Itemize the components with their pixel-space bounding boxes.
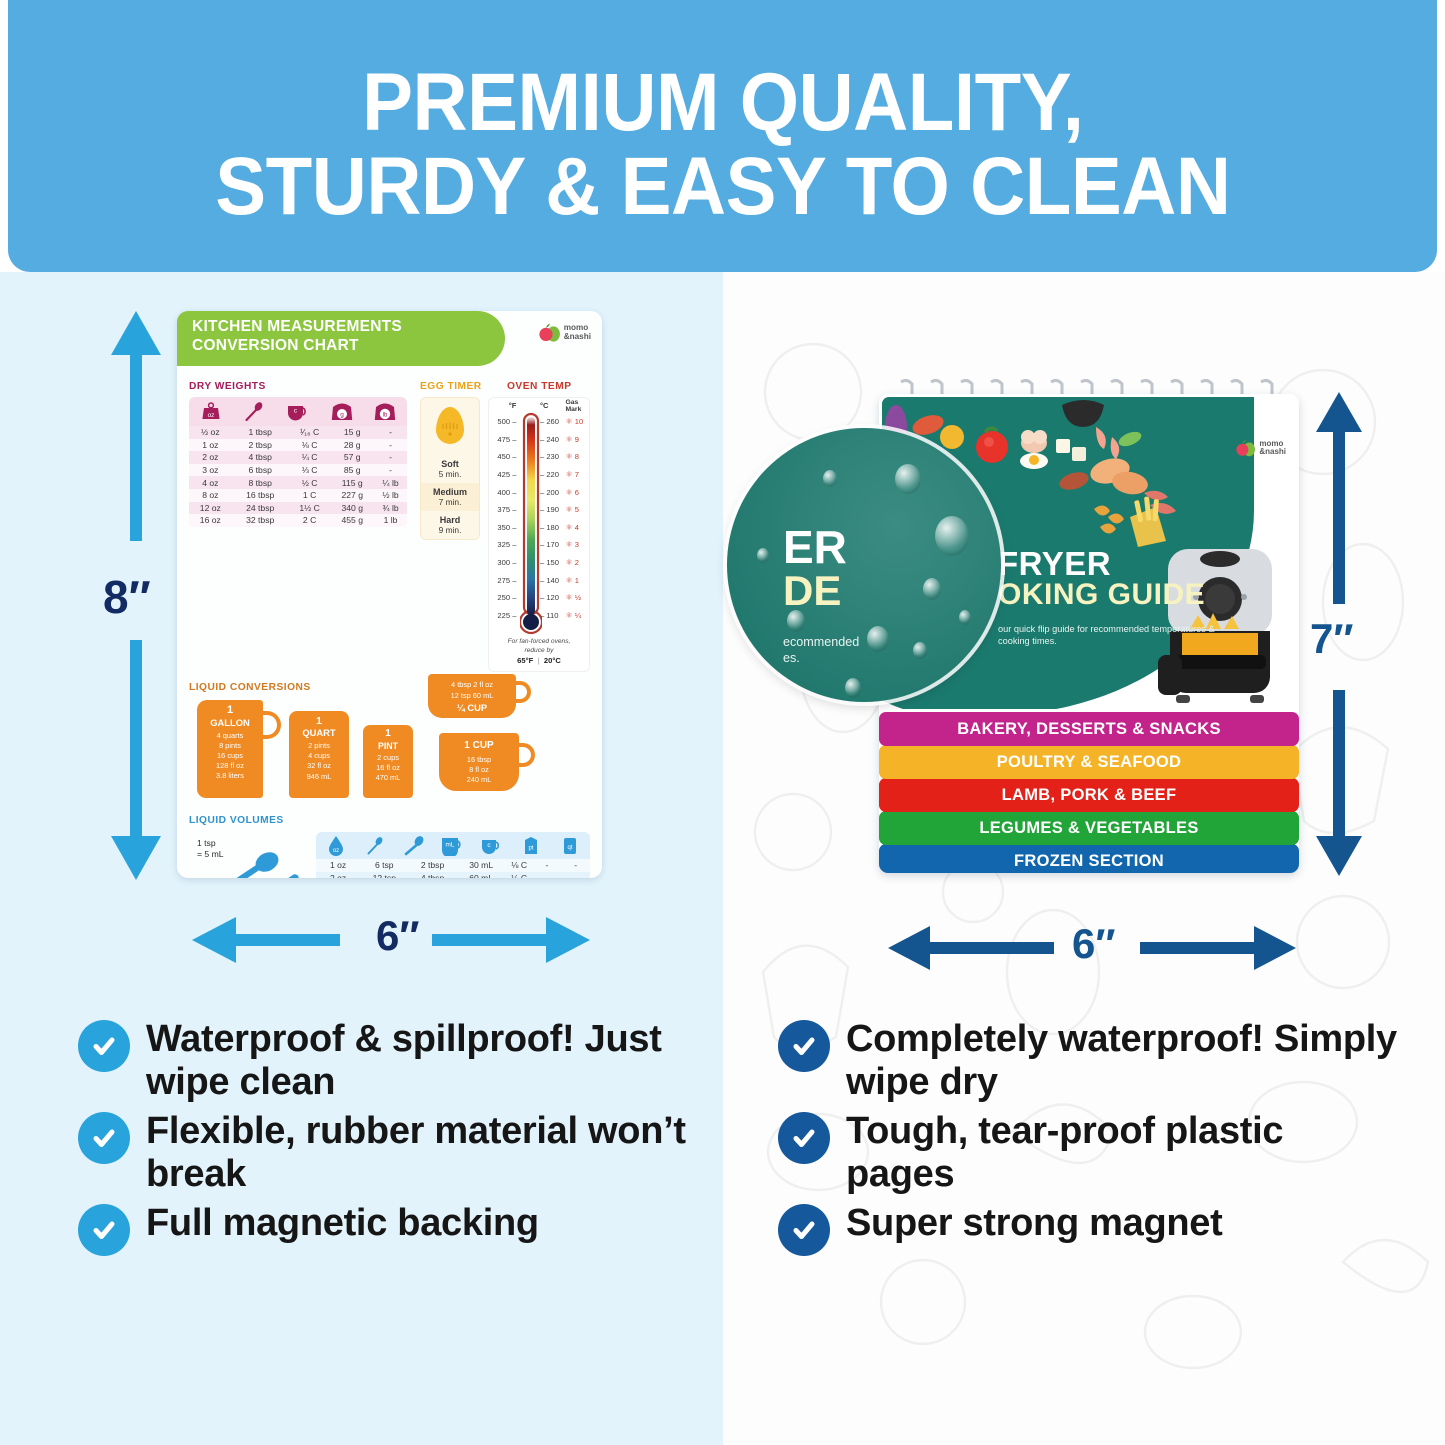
egg-timer-row: Hard9 min. — [421, 511, 479, 539]
oven-gas-value: ⚛ 6 — [565, 488, 589, 497]
table-cell: ½ lb — [374, 489, 407, 502]
table-cell: - — [374, 439, 407, 452]
pound-scale-icon: lb — [363, 397, 407, 426]
table-cell: - — [533, 872, 562, 878]
gallon-handle — [261, 711, 281, 739]
vessel-line: 12 tsp 60 mL — [428, 690, 516, 701]
table-cell: 4 oz — [189, 476, 232, 489]
quart-lines: 2 pints4 cups32 fl oz946 mL — [289, 741, 349, 782]
header-banner: PREMIUM QUALITY, STURDY & EASY TO CLEAN — [8, 0, 1437, 272]
oven-note-f: 65°F — [517, 656, 533, 665]
oven-temp-panel: °F °C Gas Mark — [488, 397, 590, 672]
table-cell: 60 mL — [457, 872, 506, 878]
table-cell: 4 tbsp — [408, 872, 456, 878]
tbsp-spoon-icon — [394, 832, 433, 859]
table-cell: 57 g — [330, 451, 374, 464]
table-cell: 30 mL — [457, 859, 506, 872]
category-tab-2[interactable]: POULTRY & SEAFOOD — [879, 745, 1299, 779]
check-icon — [778, 1020, 830, 1072]
feature-label: Tough, tear-proof plastic pages — [846, 1110, 1398, 1196]
table-cell: 28 g — [330, 439, 374, 452]
right-height-label: 7″ — [1310, 615, 1353, 663]
cup-icon: c — [276, 397, 320, 426]
quarter-cup-vessel: 4 tbsp 2 fl oz12 tsp 60 mL ¼ CUP — [428, 674, 516, 718]
oven-c-value: – 220 — [540, 470, 565, 479]
oven-f-value: 275 – — [489, 576, 518, 585]
svg-text:mL: mL — [446, 841, 455, 848]
oven-gas-value: ⚛ 1 — [565, 576, 589, 585]
oven-header-f: °F — [489, 401, 518, 410]
vessel-line: 8 fl oz — [439, 765, 519, 775]
category-tab-1[interactable]: BAKERY, DESSERTS & SNACKS — [879, 712, 1299, 746]
section-title-oven-temp: OVEN TEMP — [507, 381, 572, 392]
table-cell: ¹⁄₁₆ C — [289, 426, 331, 439]
egg-label: Soft — [441, 459, 459, 469]
magnified-sub-line-2: es. — [783, 650, 993, 666]
check-icon — [778, 1204, 830, 1256]
oven-gas-value: ⚛ ½ — [565, 593, 589, 602]
feature-label: Waterproof & spillproof! Just wipe clean — [146, 1018, 708, 1104]
oven-gas-value: ⚛ 4 — [565, 523, 589, 532]
vessel-line: 4 tbsp 2 fl oz — [428, 679, 516, 690]
vessel-line: 2 cups — [363, 753, 413, 763]
check-icon — [78, 1020, 130, 1072]
table-cell: 1 C — [289, 489, 331, 502]
oven-header-row: °F °C Gas Mark — [489, 398, 589, 413]
one-cup-lines: 16 tbsp8 fl oz240 mL — [439, 755, 519, 786]
magnified-title: ER DE — [783, 524, 847, 612]
oven-c-value: – 230 — [540, 452, 565, 461]
quarter-cup-lines: 4 tbsp 2 fl oz12 tsp 60 mL — [428, 679, 516, 701]
oven-f-value: 500 – — [489, 417, 518, 426]
cover-peach-pear-icon — [1236, 439, 1256, 457]
fluid-oz-drop-icon: oz — [316, 832, 355, 859]
svg-text:oz: oz — [332, 848, 338, 854]
banner-line-1: PREMIUM QUALITY, — [362, 61, 1083, 145]
cover-title-line-2: OKING GUIDE — [998, 580, 1205, 610]
table-cell: 455 g — [330, 514, 374, 527]
check-icon — [78, 1204, 130, 1256]
check-icon — [778, 1112, 830, 1164]
table-cell: 16 oz — [189, 514, 232, 527]
quart-vessel: 1 QUART 2 pints4 cups32 fl oz946 mL — [289, 711, 349, 798]
cup-blue-icon: c — [473, 832, 512, 859]
table-row: 1 oz2 tbsp⅛ C28 g- — [189, 439, 407, 452]
chart-title-line-2: CONVERSION CHART — [192, 337, 505, 356]
dry-weights-body: ½ oz1 tbsp¹⁄₁₆ C15 g-1 oz2 tbsp⅛ C28 g-2… — [189, 426, 407, 527]
vessel-line: 470 mL — [363, 773, 413, 783]
table-cell: 24 tbsp — [232, 502, 289, 515]
table-cell: - — [374, 464, 407, 477]
table-cell: - — [374, 426, 407, 439]
table-cell: ⅓ C — [289, 464, 331, 477]
oven-gas-value: ⚛ 7 — [565, 470, 589, 479]
one-cup-handle — [517, 743, 535, 767]
egg-timer-row: Soft5 min. — [421, 455, 479, 483]
feature-label: Completely waterproof! Simply wipe dry — [846, 1018, 1398, 1104]
section-title-egg-timer: EGG TIMER — [420, 381, 482, 392]
section-title-liquid-conversions: LIQUID CONVERSIONS — [189, 682, 311, 693]
magnified-title-line-2: DE — [783, 570, 847, 612]
vessel-line: 128 fl oz — [197, 761, 263, 771]
table-cell: 2 tbsp — [232, 439, 289, 452]
table-row: 12 oz24 tbsp1½ C340 g¾ lb — [189, 502, 407, 515]
cover-subtitle: our quick flip guide for recommended tem… — [998, 623, 1218, 648]
category-tab-label: POULTRY & SEAFOOD — [997, 753, 1181, 772]
table-cell: 15 g — [330, 426, 374, 439]
pint-lines: 2 cups16 fl oz470 mL — [363, 753, 413, 784]
oven-f-value: 375 – — [489, 505, 518, 514]
table-cell: - — [533, 859, 562, 872]
liquid-volumes-body: 1 oz6 tsp2 tbsp30 mL⅛ C--2 oz12 tsp4 tbs… — [316, 859, 590, 878]
table-cell: 115 g — [330, 476, 374, 489]
egg-time: 7 min. — [439, 497, 462, 507]
table-cell: 12 tsp — [360, 872, 408, 878]
table-row: 16 oz32 tbsp2 C455 g1 lb — [189, 514, 407, 527]
cover-title: FRYER OKING GUIDE — [998, 547, 1205, 610]
svg-text:g: g — [340, 411, 344, 418]
vessel-line: 4 quarts — [197, 731, 263, 741]
egg-label: Hard — [440, 515, 461, 525]
oven-c-value: – 150 — [540, 558, 565, 567]
quarter-cup-handle — [514, 681, 531, 703]
table-cell: 1 tbsp — [232, 426, 289, 439]
table-cell: ½ C — [289, 476, 331, 489]
table-cell: ½ oz — [189, 426, 232, 439]
egg-label: Medium — [433, 487, 467, 497]
feature-item-3: Full magnetic backing — [78, 1202, 708, 1256]
table-cell: 340 g — [330, 502, 374, 515]
table-row: ½ oz1 tbsp¹⁄₁₆ C15 g- — [189, 426, 407, 439]
liquid-volumes-header-row: oz mL c pt qt — [316, 832, 590, 859]
one-cup-vessel: 1 CUP 16 tbsp8 fl oz240 mL — [439, 733, 519, 791]
oven-gas-value: ⚛ 5 — [565, 505, 589, 514]
table-cell: 2 oz — [189, 451, 232, 464]
oven-gas-value: ⚛ 9 — [565, 435, 589, 444]
table-cell: 32 tbsp — [232, 514, 289, 527]
oven-f-value: 225 – — [489, 611, 518, 620]
dry-weights-table: oz c g lb ½ oz1 tbsp¹⁄₁₆ C15 g-1 oz2 tbs… — [189, 397, 407, 527]
magnified-title-line-1: ER — [783, 524, 847, 570]
cover-brand-logo: momo &nashi — [1236, 439, 1286, 457]
feature-label: Super strong magnet — [846, 1202, 1222, 1245]
waterproof-magnifier-overlay: ER DE ecommended es. — [727, 428, 1001, 702]
svg-text:oz: oz — [207, 412, 214, 419]
vessel-line: 32 fl oz — [289, 761, 349, 771]
table-row: 2 oz4 tbsp¼ C57 g- — [189, 451, 407, 464]
table-cell: 1 oz — [189, 439, 232, 452]
vessel-line: 16 cups — [197, 751, 263, 761]
table-cell: 2 C — [289, 514, 331, 527]
table-cell: 6 tsp — [360, 859, 408, 872]
feature-item-2: Flexible, rubber material won’t break — [78, 1110, 708, 1196]
egg-timer-panel: Soft5 min.Medium7 min.Hard9 min. — [420, 397, 480, 540]
oven-c-value: – 180 — [540, 523, 565, 532]
oven-f-value: 325 – — [489, 540, 518, 549]
quart-carton-icon: qt — [551, 832, 590, 859]
right-feature-rows: Completely waterproof! Simply wipe dryTo… — [778, 1018, 1398, 1256]
table-cell: ¾ lb — [374, 502, 407, 515]
vessel-line: 4 cups — [289, 751, 349, 761]
oven-f-value: 300 – — [489, 558, 518, 567]
oven-gas-value: ⚛ 10 — [565, 417, 589, 426]
table-row: 3 oz6 tbsp⅓ C85 g- — [189, 464, 407, 477]
table-cell: 16 tbsp — [232, 489, 289, 502]
vessel-line: 16 tbsp — [439, 755, 519, 765]
tsp-note: 1 tsp = 5 mL — [197, 838, 224, 860]
category-tab-label: LAMB, PORK & BEEF — [1002, 786, 1177, 805]
air-fryer-cooking-guide-book: momo &nashi — [879, 378, 1299, 873]
oz-weight-icon: oz — [189, 397, 233, 426]
table-cell: ¼ C — [289, 451, 331, 464]
oven-gas-value: ⚛ 8 — [565, 452, 589, 461]
table-cell: ¼ lb — [374, 476, 407, 489]
table-cell: 1 oz — [316, 859, 360, 872]
gallon-vessel: 1 GALLON 4 quarts8 pints16 cups128 fl oz… — [197, 700, 263, 798]
table-cell: ⅛ C — [506, 859, 533, 872]
table-cell: 4 tbsp — [232, 451, 289, 464]
table-row: 8 oz16 tbsp1 C227 g½ lb — [189, 489, 407, 502]
oven-note-line-2: reduce by — [489, 647, 589, 656]
vessel-line: 16 fl oz — [363, 763, 413, 773]
left-feature-list: Waterproof & spillproof! Just wipe clean… — [78, 1018, 708, 1262]
table-cell: 2 tbsp — [408, 859, 456, 872]
table-cell: 8 oz — [189, 489, 232, 502]
left-height-label: 8″ — [103, 570, 151, 624]
thermometer-icon — [520, 412, 542, 640]
peach-pear-logo-icon — [539, 323, 561, 342]
brand-logo: momo &nashi — [539, 323, 591, 342]
feature-label: Full magnetic backing — [146, 1202, 539, 1245]
table-cell: 3 oz — [189, 464, 232, 477]
category-tab-label: FROZEN SECTION — [1014, 852, 1164, 871]
vessel-line: 946 mL — [289, 772, 349, 782]
dry-weights-header-row: oz c g lb — [189, 397, 407, 426]
table-cell: 12 oz — [189, 502, 232, 515]
left-feature-rows: Waterproof & spillproof! Just wipe clean… — [78, 1018, 708, 1256]
table-cell: 227 g — [330, 489, 374, 502]
table-cell: 85 g — [330, 464, 374, 477]
pint-carton-icon: pt — [512, 832, 551, 859]
table-row: 4 oz8 tbsp½ C115 g¼ lb — [189, 476, 407, 489]
table-cell: 1 lb — [374, 514, 407, 527]
svg-text:qt: qt — [568, 845, 573, 851]
egg-timer-row: Medium7 min. — [421, 483, 479, 511]
ml-jug-icon: mL — [433, 832, 472, 859]
table-cell: 6 tbsp — [232, 464, 289, 477]
vessel-line: 3.8 liters — [197, 771, 263, 781]
banner-line-2: STURDY & EASY TO CLEAN — [215, 145, 1230, 229]
right-width-label: 6″ — [1072, 920, 1115, 968]
egg-time: 5 min. — [439, 469, 462, 479]
chart-title-bar: KITCHEN MEASUREMENTS CONVERSION CHART — [177, 311, 505, 366]
oven-c-value: – 140 — [540, 576, 565, 585]
section-title-liquid-volumes: LIQUID VOLUMES — [189, 815, 284, 826]
oven-f-value: 450 – — [489, 452, 518, 461]
table-cell: 2 oz — [316, 872, 360, 878]
spoon-illustrations: 1 tsp = 5 mL 1 Tbsp = 15 mL Dash = ⅛ tsp… — [191, 834, 309, 878]
feature-item-3: Super strong magnet — [778, 1202, 1398, 1256]
feature-item-1: Completely waterproof! Simply wipe dry — [778, 1018, 1398, 1104]
right-height-arrow-lower — [1308, 690, 1378, 920]
left-height-arrow-lower — [105, 640, 175, 900]
section-title-dry-weights: DRY WEIGHTS — [189, 381, 266, 392]
feature-item-1: Waterproof & spillproof! Just wipe clean — [78, 1018, 708, 1104]
table-cell: - — [561, 859, 590, 872]
oven-gas-value: ⚛ 2 — [565, 558, 589, 567]
right-feature-list: Completely waterproof! Simply wipe dryTo… — [778, 1018, 1398, 1262]
tsp-spoon-icon — [355, 832, 394, 859]
oven-f-value: 400 – — [489, 488, 518, 497]
svg-text:pt: pt — [529, 845, 534, 851]
oven-c-value: – 240 — [540, 435, 565, 444]
vessel-line: 2 pints — [289, 741, 349, 751]
table-cell: 1½ C — [289, 502, 331, 515]
feature-item-2: Tough, tear-proof plastic pages — [778, 1110, 1398, 1196]
egg-icon — [421, 398, 479, 455]
oven-c-value: – 200 — [540, 488, 565, 497]
brand-name-line-2: &nashi — [564, 333, 591, 341]
category-tab-label: LEGUMES & VEGETABLES — [979, 819, 1198, 838]
gram-scale-icon: g — [320, 397, 364, 426]
table-row: 2 oz12 tsp4 tbsp60 mL¼ C-- — [316, 872, 590, 878]
vessel-line: 8 pints — [197, 741, 263, 751]
oven-note: For fan-forced ovens, reduce by 65°F | 2… — [489, 638, 589, 666]
table-cell: ⅛ C — [289, 439, 331, 452]
table-cell: - — [374, 451, 407, 464]
left-width-label: 6″ — [376, 912, 419, 960]
category-tab-3[interactable]: LAMB, PORK & BEEF — [879, 778, 1299, 812]
category-tab-4[interactable]: LEGUMES & VEGETABLES — [879, 811, 1299, 845]
oven-c-value: – 120 — [540, 593, 565, 602]
gallon-lines: 4 quarts8 pints16 cups128 fl oz3.8 liter… — [197, 731, 263, 782]
oven-c-value: – 110 — [540, 611, 565, 620]
table-row: 1 oz6 tsp2 tbsp30 mL⅛ C-- — [316, 859, 590, 872]
oven-f-value: 350 – — [489, 523, 518, 532]
egg-timer-rows: Soft5 min.Medium7 min.Hard9 min. — [421, 455, 479, 539]
oven-f-value: 425 – — [489, 470, 518, 479]
oven-gas-value: ⚛ 3 — [565, 540, 589, 549]
table-cell: - — [561, 872, 590, 878]
oven-f-value: 475 – — [489, 435, 518, 444]
oven-c-value: – 170 — [540, 540, 565, 549]
cover-title-line-1: FRYER — [998, 547, 1205, 580]
oven-header-c: °C — [540, 401, 565, 410]
oven-note-line-1: For fan-forced ovens, — [489, 638, 589, 647]
pint-vessel: 1 PINT 2 cups16 fl oz470 mL — [363, 725, 413, 798]
chart-title-line-1: KITCHEN MEASUREMENTS — [192, 318, 505, 337]
oven-c-value: – 260 — [540, 417, 565, 426]
category-tab-5[interactable]: FROZEN SECTION — [879, 844, 1299, 873]
oven-c-value: – 190 — [540, 505, 565, 514]
category-tab-label: BAKERY, DESSERTS & SNACKS — [957, 720, 1221, 739]
check-icon — [78, 1112, 130, 1164]
spoon-icon — [233, 397, 277, 426]
kitchen-conversion-chart: KITCHEN MEASUREMENTS CONVERSION CHART mo… — [177, 311, 602, 878]
oven-gas-value: ⚛ ¼ — [565, 611, 589, 620]
feature-label: Flexible, rubber material won’t break — [146, 1110, 708, 1196]
oven-header-gas: Gas Mark — [565, 399, 589, 413]
table-cell: ¼ C — [506, 872, 533, 878]
vessel-line: 240 mL — [439, 775, 519, 785]
oven-f-value: 250 – — [489, 593, 518, 602]
liquid-volumes-table: oz mL c pt qt 1 oz6 tsp2 tbsp30 mL⅛ C--2… — [316, 832, 590, 878]
egg-time: 9 min. — [439, 525, 462, 535]
oven-note-c: 20°C — [544, 656, 561, 665]
svg-text:lb: lb — [383, 412, 388, 418]
table-cell: 8 tbsp — [232, 476, 289, 489]
